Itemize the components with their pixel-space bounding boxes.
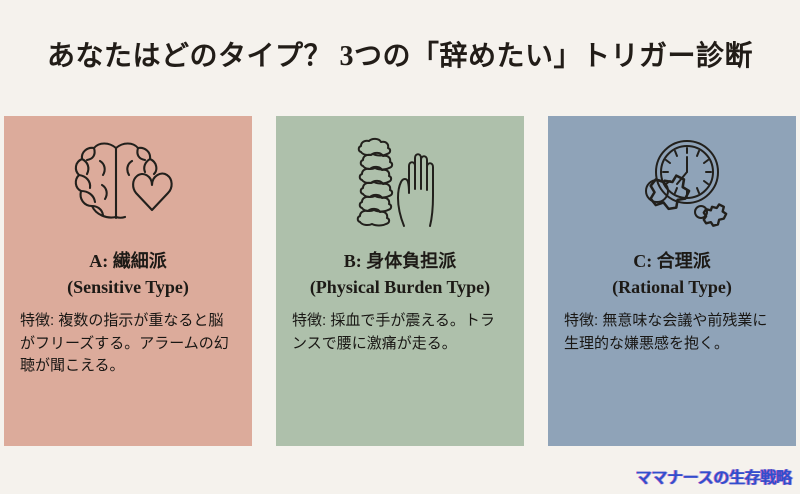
card-body-text: 特徴: 採血で手が震える。トランスで腰に激痛が走る。 — [276, 300, 524, 355]
card-heading-line2: (Rational Type) — [548, 274, 796, 300]
slide-root: あなたはどのタイプ？ 3つの「辞めたい」トリガー診断 — [0, 0, 800, 494]
card-heading: C: 合理派 (Rational Type) — [548, 248, 796, 300]
type-cards-row: A: 繊細派 (Sensitive Type) 特徴: 複数の指示が重なると脳が… — [4, 116, 796, 446]
clock-gears-icon — [548, 116, 796, 246]
card-heading-line2: (Sensitive Type) — [4, 274, 252, 300]
type-card-physical-burden[interactable]: B: 身体負担派 (Physical Burden Type) 特徴: 採血で手… — [276, 116, 524, 446]
page-title-text: あなたはどのタイプ？ 3つの「辞めたい」トリガー診断 — [0, 34, 800, 74]
page-title: あなたはどのタイプ？ 3つの「辞めたい」トリガー診断 — [0, 34, 800, 74]
card-body-text: 特徴: 無意味な会議や前残業に生理的な嫌悪感を抱く。 — [548, 300, 796, 355]
card-heading: A: 繊細派 (Sensitive Type) — [4, 248, 252, 300]
brain-heart-icon — [4, 116, 252, 246]
card-heading: B: 身体負担派 (Physical Burden Type) — [276, 248, 524, 300]
type-card-rational[interactable]: C: 合理派 (Rational Type) 特徴: 無意味な会議や前残業に生理… — [548, 116, 796, 446]
card-heading-line2: (Physical Burden Type) — [276, 274, 524, 300]
brand-watermark: ママナースの生存戦略 — [636, 464, 792, 488]
card-heading-line1: B: 身体負担派 — [276, 248, 524, 274]
card-heading-line1: C: 合理派 — [548, 248, 796, 274]
card-heading-line1: A: 繊細派 — [4, 248, 252, 274]
spine-hand-icon — [276, 116, 524, 246]
type-card-sensitive[interactable]: A: 繊細派 (Sensitive Type) 特徴: 複数の指示が重なると脳が… — [4, 116, 252, 446]
card-body-text: 特徴: 複数の指示が重なると脳がフリーズする。アラームの幻聴が聞こえる。 — [4, 300, 252, 378]
